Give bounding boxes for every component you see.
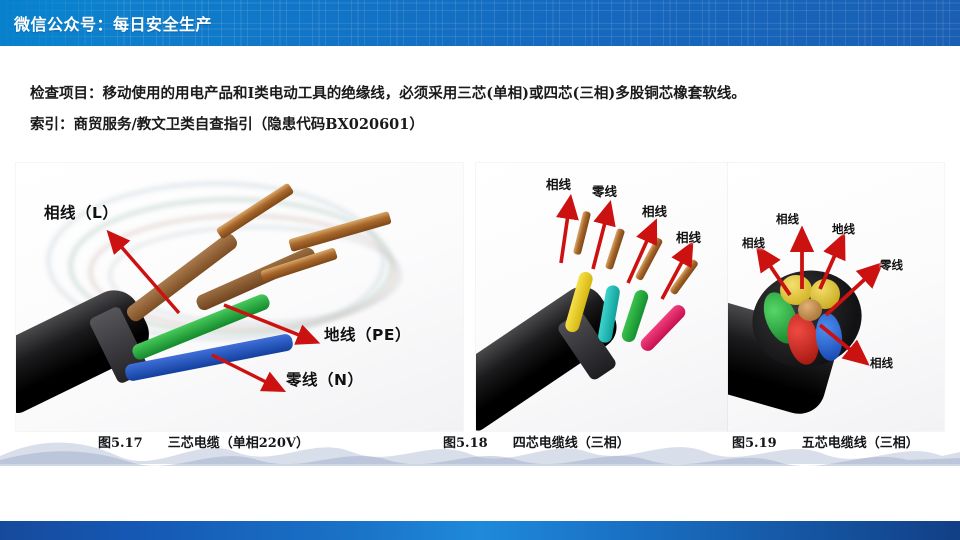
banner-title: 微信公众号：每日安全生产	[14, 11, 212, 35]
top-banner: 微信公众号：每日安全生产	[0, 0, 960, 46]
figure-arrows-5-18	[476, 163, 728, 431]
caption-5-18: 图5.18 四芯电缆线（三相）	[443, 432, 630, 451]
heading-block: 检查项目：移动使用的用电产品和I类电动工具的绝缘线，必须采用三芯(单相)或四芯(…	[30, 84, 940, 135]
label-neutral: 零线	[592, 181, 617, 200]
label-neutral-n: 零线（N）	[286, 368, 363, 390]
label-phase-1: 相线	[546, 174, 571, 193]
label-phase-2: 相线	[776, 211, 799, 227]
caption-number: 图5.18	[443, 436, 488, 451]
label-phase-2: 相线	[642, 201, 667, 220]
caption-text: 四芯电缆线（三相）	[513, 436, 630, 451]
figure-panel-5-17: 相线（L） 地线（PE） 零线（N）	[16, 163, 463, 431]
label-earth-pe: 地线（PE）	[324, 323, 411, 345]
caption-5-17: 图5.17 三芯电缆（单相220V）	[98, 432, 309, 451]
figure-arrows-5-19	[728, 163, 944, 431]
figure-panel-5-19: 相线 相线 地线 零线 相线	[728, 163, 944, 431]
label-phase-1: 相线	[742, 235, 765, 251]
label-phase-l: 相线（L）	[44, 201, 118, 223]
index-line: 索引：商贸服务/教文卫类自查指引（隐患代码BX020601）	[30, 115, 940, 135]
figure-panel-5-18: 相线 零线 相线 相线	[476, 163, 728, 431]
label-phase-3: 相线	[676, 227, 701, 246]
caption-text: 三芯电缆（单相220V）	[168, 436, 309, 451]
caption-text: 五芯电缆线（三相）	[802, 436, 919, 451]
caption-number: 图5.19	[732, 436, 777, 451]
label-neutral: 零线	[880, 257, 903, 273]
label-phase-3: 相线	[870, 355, 893, 371]
figure-captions: 图5.17 三芯电缆（单相220V） 图5.18 四芯电缆线（三相） 图5.19…	[0, 432, 960, 454]
figure-strip: 相线（L） 地线（PE） 零线（N） 相线	[16, 163, 944, 431]
footer-bar	[0, 521, 960, 540]
caption-5-19: 图5.19 五芯电缆线（三相）	[732, 432, 919, 451]
label-earth: 地线	[832, 221, 855, 237]
check-item-line: 检查项目：移动使用的用电产品和I类电动工具的绝缘线，必须采用三芯(单相)或四芯(…	[30, 84, 940, 104]
caption-number: 图5.17	[98, 436, 143, 451]
